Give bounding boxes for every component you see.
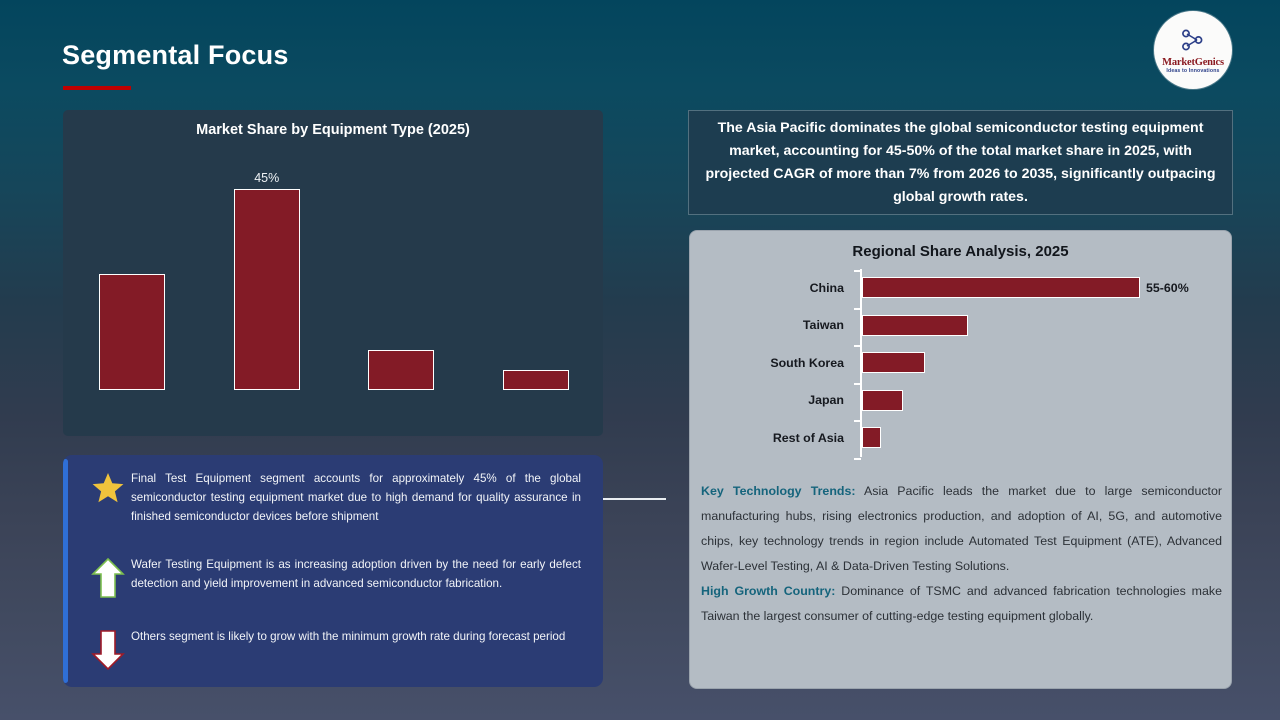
regional-bar-track: [852, 307, 1233, 345]
regional-axis-tick: [854, 270, 861, 272]
callout-text: Final Test Equipment segment accounts fo…: [131, 469, 585, 526]
regional-axis-tick: [854, 383, 861, 385]
regional-bar-row: Taiwan: [690, 307, 1233, 345]
star-icon: [85, 469, 131, 505]
bar-value-label: 45%: [254, 171, 279, 185]
callout-item: Final Test Equipment segment accounts fo…: [85, 469, 585, 526]
regional-bar-row: Rest of Asia: [690, 419, 1233, 457]
callout-accent-bar: [63, 459, 68, 683]
equipment-share-chart-panel: Market Share by Equipment Type (2025) 45…: [63, 110, 603, 436]
regional-category-label: Taiwan: [690, 318, 852, 332]
logo-tagline: Ideas to Innovations: [1166, 68, 1219, 74]
arrow-down-icon: [85, 627, 131, 671]
regional-category-label: China: [690, 281, 852, 295]
regional-category-label: Rest of Asia: [690, 431, 852, 445]
equipment-bar-slot: [334, 158, 469, 390]
regional-bar-row: China55-60%: [690, 269, 1233, 307]
region-paragraph-trends: Key Technology Trends: Asia Pacific lead…: [701, 479, 1222, 579]
regional-bar-track: [852, 344, 1233, 382]
equipment-bar: [503, 370, 569, 390]
regional-category-label: South Korea: [690, 356, 852, 370]
equipment-bar: [234, 189, 300, 390]
equipment-bar: [99, 274, 165, 390]
region-paragraph-growth: High Growth Country: Dominance of TSMC a…: [701, 579, 1222, 629]
lead-high-growth-country: High Growth Country:: [701, 584, 835, 598]
regional-category-label: Japan: [690, 393, 852, 407]
callout-text: Wafer Testing Equipment is as increasing…: [131, 555, 585, 593]
regional-bar-track: [852, 419, 1233, 457]
lead-key-technology-trends: Key Technology Trends:: [701, 484, 855, 498]
regional-bar-row: South Korea: [690, 344, 1233, 382]
highlight-text: The Asia Pacific dominates the global se…: [705, 117, 1216, 209]
equipment-bar-slot: 45%: [200, 158, 335, 390]
regional-bar-row: Japan: [690, 382, 1233, 420]
regional-bar: [862, 315, 968, 336]
equipment-bar: [368, 350, 434, 390]
regional-bar: [862, 427, 881, 448]
regional-bar-value-label: 55-60%: [1146, 281, 1189, 295]
regional-axis-tick: [854, 420, 861, 422]
regional-analysis-text: Key Technology Trends: Asia Pacific lead…: [701, 479, 1222, 629]
insights-callout-panel: Final Test Equipment segment accounts fo…: [63, 455, 603, 687]
regional-axis-tick: [854, 308, 861, 310]
regional-axis-tick: [854, 345, 861, 347]
callout-item: Wafer Testing Equipment is as increasing…: [85, 555, 585, 599]
page-title: Segmental Focus: [62, 40, 289, 71]
brand-logo: MarketGenics Ideas to Innovations: [1154, 11, 1232, 89]
regional-highlight-banner: The Asia Pacific dominates the global se…: [688, 110, 1233, 215]
equipment-bars-plot-area: 45%: [65, 158, 603, 390]
network-nodes-icon: [1180, 29, 1206, 56]
regional-bar: [862, 352, 925, 373]
title-underline-rule: [63, 86, 131, 90]
regional-bar: [862, 390, 903, 411]
callout-text: Others segment is likely to grow with th…: [131, 627, 585, 646]
regional-bar: [862, 277, 1140, 298]
slide-canvas: Segmental Focus MarketGenics Ideas to In…: [0, 0, 1280, 720]
equipment-bar-slot: [65, 158, 200, 390]
regional-bar-track: [852, 382, 1233, 420]
chart-title-regional: Regional Share Analysis, 2025: [690, 243, 1231, 260]
regional-bars-plot-area: China55-60%TaiwanSouth KoreaJapanRest of…: [690, 269, 1233, 461]
regional-axis-tick: [854, 458, 861, 460]
chart-title-equipment: Market Share by Equipment Type (2025): [63, 122, 603, 138]
regional-bar-track: 55-60%: [852, 269, 1233, 307]
equipment-bar-slot: [469, 158, 604, 390]
callout-item: Others segment is likely to grow with th…: [85, 627, 585, 671]
arrow-up-icon: [85, 555, 131, 599]
logo-wordmark: MarketGenics: [1162, 57, 1224, 68]
regional-share-panel: Regional Share Analysis, 2025 China55-60…: [689, 230, 1232, 689]
